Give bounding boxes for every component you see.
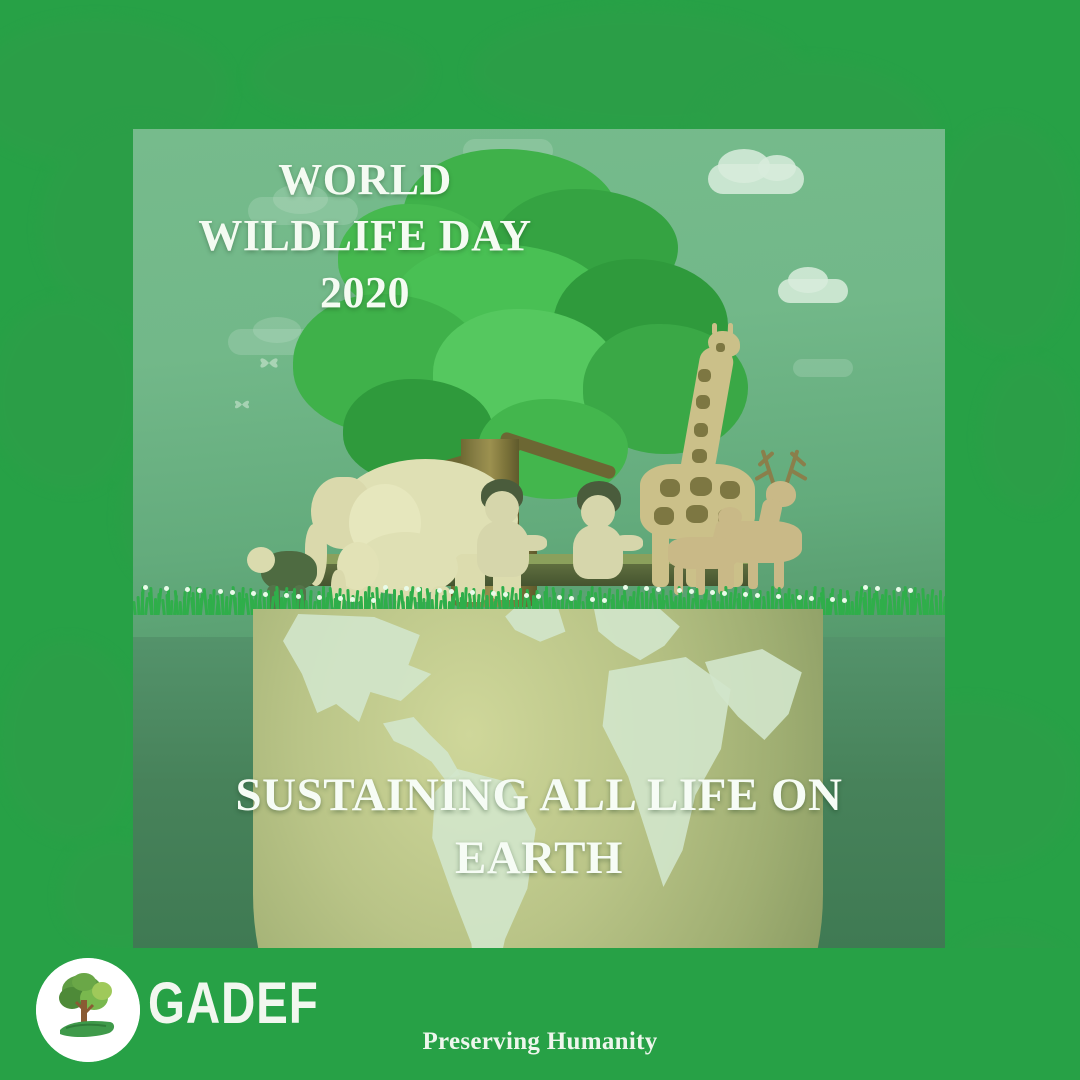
child-icon (561, 481, 646, 586)
page-title: WORLD WILDLIFE DAY 2020 (155, 152, 575, 321)
continent-north-america (283, 614, 473, 764)
title-line-3: 2020 (155, 265, 575, 321)
child-icon (463, 479, 548, 587)
footer-bar: GADEF (0, 948, 1080, 1080)
butterfly-icon (258, 354, 280, 372)
poster-tagline: SUSTAINING ALL LIFE ON EARTH (133, 764, 945, 891)
butterfly-icon (233, 397, 251, 412)
title-line-2: WILDLIFE DAY (155, 208, 575, 264)
brand-motto: Preserving Humanity (0, 1028, 1080, 1056)
tagline-line-2: EARTH (133, 827, 945, 890)
tagline-line-1: SUSTAINING ALL LIFE ON (133, 764, 945, 827)
title-line-1: WORLD (155, 152, 575, 208)
continent-greenland (501, 609, 571, 651)
brand-wordmark: GADEF (148, 970, 319, 1037)
